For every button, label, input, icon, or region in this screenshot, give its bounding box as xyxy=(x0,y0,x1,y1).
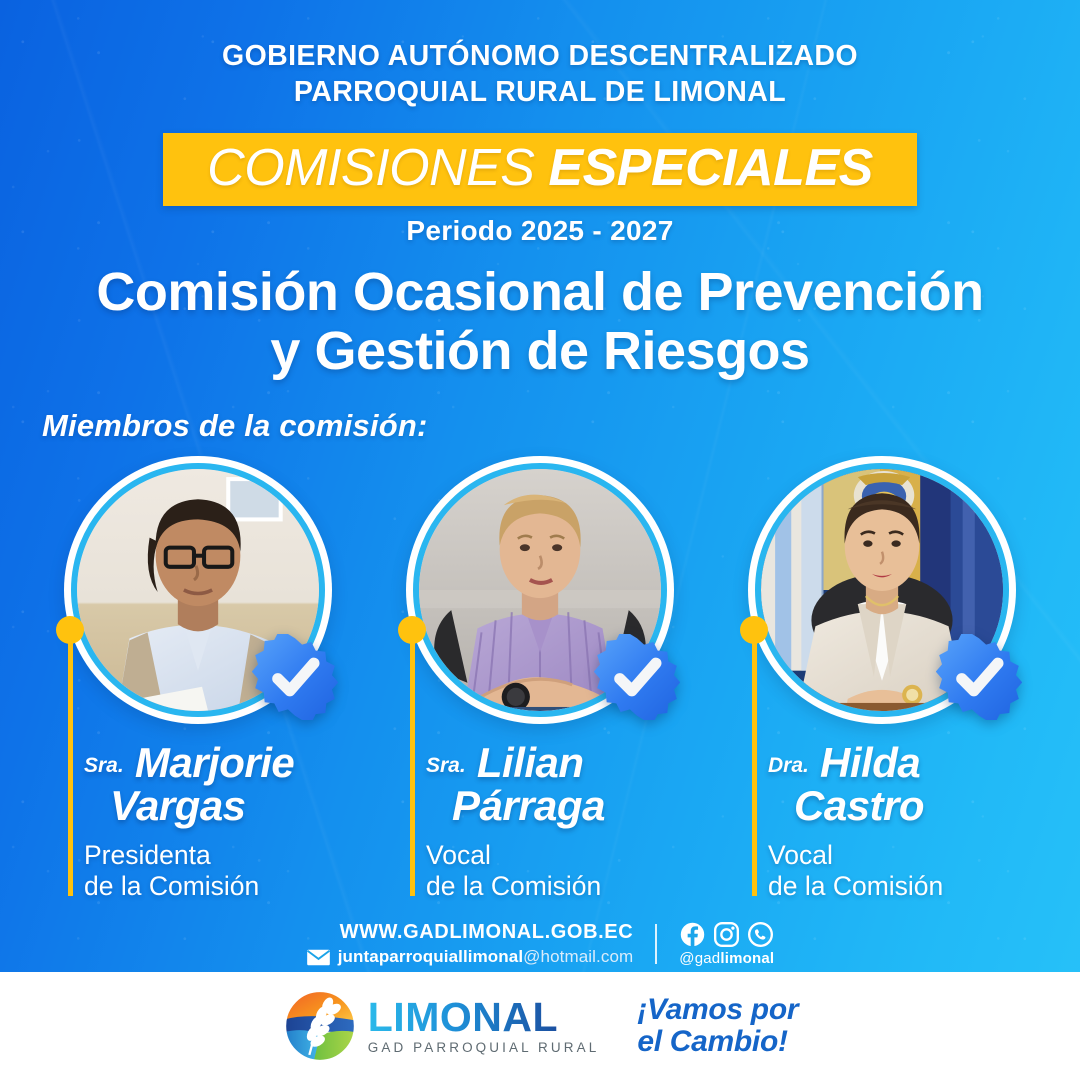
banner-word-especiales: ESPECIALES xyxy=(548,139,872,197)
whatsapp-icon[interactable] xyxy=(748,922,773,947)
member-first-name: Lilian xyxy=(477,739,584,786)
member-role: Vocal de la Comisión xyxy=(768,840,1042,901)
logo-name: LIMONAL xyxy=(368,994,558,1040)
yellow-pin-marker xyxy=(56,616,86,896)
social-handle: @gadlimonal xyxy=(679,950,774,967)
email-address: juntaparroquiallimonal@hotmail.com xyxy=(338,947,634,967)
slogan-line1: ¡Vamos por xyxy=(637,994,798,1026)
banner-text: COMISIONES ESPECIALES xyxy=(207,142,873,194)
member-role-line2: de la Comisión xyxy=(426,871,700,902)
member-role: Presidenta de la Comisión xyxy=(84,840,358,901)
email-user: juntaparroquiallimonal xyxy=(338,947,523,966)
commission-title: Comisión Ocasional de Prevención y Gesti… xyxy=(0,263,1080,382)
member-photo-frame xyxy=(406,456,674,724)
member-name-line1: Dra. Hilda xyxy=(768,742,1042,784)
website-url[interactable]: WWW.GADLIMONAL.GOB.EC xyxy=(306,921,634,944)
member-first-name: Hilda xyxy=(820,739,920,786)
member-role-line1: Presidenta xyxy=(84,840,358,871)
verified-check-icon xyxy=(936,634,1022,720)
member-last-name: Castro xyxy=(768,784,1042,829)
contact-right-group: @gadlimonal xyxy=(679,922,774,967)
member-role-line1: Vocal xyxy=(768,840,1042,871)
member-card: Dra. Hilda Castro Vocal de la Comisión xyxy=(722,456,1042,902)
commission-title-line1: Comisión Ocasional de Prevención xyxy=(0,263,1080,322)
org-header-line2: PARROQUIAL RURAL DE LIMONAL xyxy=(0,74,1080,110)
member-first-name: Marjorie xyxy=(135,739,294,786)
limonal-emblem-icon xyxy=(282,988,358,1064)
poster-canvas: GOBIERNO AUTÓNOMO DESCENTRALIZADO PARROQ… xyxy=(0,0,1080,1080)
pin-stem xyxy=(752,634,757,896)
member-role: Vocal de la Comisión xyxy=(426,840,700,901)
handle-prefix: @gad xyxy=(679,950,720,967)
slogan: ¡Vamos por el Cambio! xyxy=(637,994,798,1058)
contact-left-group: WWW.GADLIMONAL.GOB.EC juntaparroquiallim… xyxy=(306,921,634,967)
logo-subtitle: GAD PARROQUIAL RURAL xyxy=(368,1041,600,1055)
facebook-icon[interactable] xyxy=(680,922,705,947)
member-card: Sra. Marjorie Vargas Presidenta de la Co… xyxy=(38,456,358,902)
comisiones-especiales-banner: COMISIONES ESPECIALES xyxy=(163,133,917,206)
member-name-block: Dra. Hilda Castro Vocal de la Comisión xyxy=(722,742,1042,902)
member-photo-frame xyxy=(748,456,1016,724)
limonal-logo-words: LIMONAL GAD PARROQUIAL RURAL xyxy=(368,997,600,1055)
email-row[interactable]: juntaparroquiallimonal@hotmail.com xyxy=(306,947,634,967)
yellow-pin-marker xyxy=(398,616,428,896)
contact-divider xyxy=(655,924,657,964)
members-grid: Sra. Marjorie Vargas Presidenta de la Co… xyxy=(0,456,1080,902)
org-header-line1: GOBIERNO AUTÓNOMO DESCENTRALIZADO xyxy=(0,38,1080,74)
member-name-block: Sra. Marjorie Vargas Presidenta de la Co… xyxy=(38,742,358,902)
organization-header: GOBIERNO AUTÓNOMO DESCENTRALIZADO PARROQ… xyxy=(0,0,1080,111)
limonal-logo-lockup: LIMONAL GAD PARROQUIAL RURAL xyxy=(282,988,600,1064)
social-icons xyxy=(679,922,774,947)
slogan-line2: el Cambio! xyxy=(637,1026,798,1058)
member-last-name: Vargas xyxy=(84,784,358,829)
envelope-icon xyxy=(306,949,331,966)
email-domain: @hotmail.com xyxy=(523,947,633,966)
member-honorific: Sra. xyxy=(84,754,124,777)
banner-wrapper: COMISIONES ESPECIALES xyxy=(0,133,1080,206)
member-name-line1: Sra. Lilian xyxy=(426,742,700,784)
member-role-line2: de la Comisión xyxy=(84,871,358,902)
instagram-icon[interactable] xyxy=(714,922,739,947)
member-role-line2: de la Comisión xyxy=(768,871,1042,902)
member-card: Sra. Lilian Párraga Vocal de la Comisión xyxy=(380,456,700,902)
pin-stem xyxy=(68,634,73,896)
member-role-line1: Vocal xyxy=(426,840,700,871)
member-photo-frame xyxy=(64,456,332,724)
period-label: Periodo 2025 - 2027 xyxy=(0,215,1080,247)
member-name-block: Sra. Lilian Párraga Vocal de la Comisión xyxy=(380,742,700,902)
yellow-pin-marker xyxy=(740,616,770,896)
banner-word-comisiones: COMISIONES xyxy=(207,139,534,197)
member-honorific: Sra. xyxy=(426,754,466,777)
verified-check-icon xyxy=(252,634,338,720)
verified-check-icon xyxy=(594,634,680,720)
member-last-name: Párraga xyxy=(426,784,700,829)
pin-stem xyxy=(410,634,415,896)
members-label: Miembros de la comisión: xyxy=(42,408,1080,444)
commission-title-line2: y Gestión de Riesgos xyxy=(0,322,1080,381)
footer-bar: LIMONAL GAD PARROQUIAL RURAL ¡Vamos por … xyxy=(0,972,1080,1080)
handle-bold: limonal xyxy=(720,950,774,967)
member-honorific: Dra. xyxy=(768,754,809,777)
member-name-line1: Sra. Marjorie xyxy=(84,742,358,784)
contact-strip: WWW.GADLIMONAL.GOB.EC juntaparroquiallim… xyxy=(0,921,1080,967)
